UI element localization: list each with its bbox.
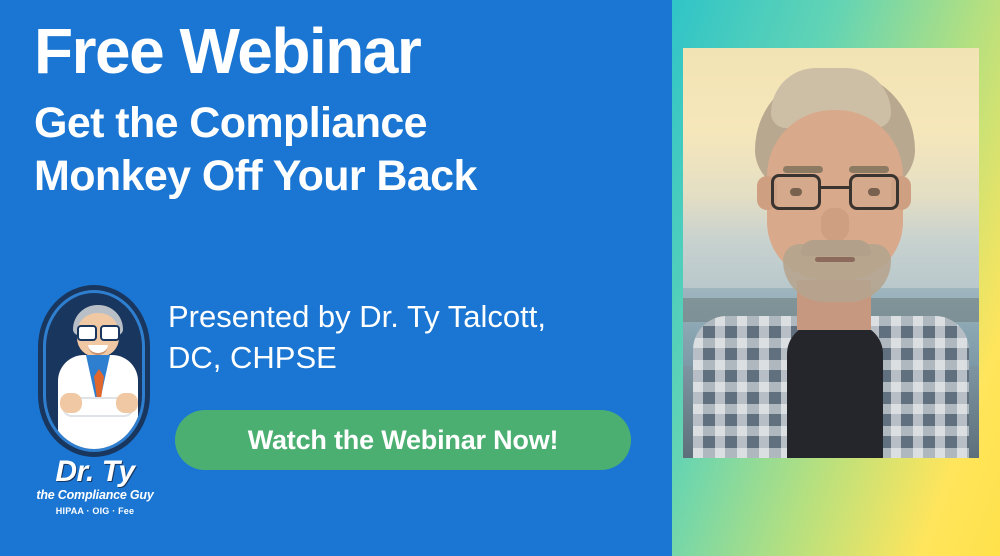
webinar-promo-banner: Free Webinar Get the Compliance Monkey O… xyxy=(0,0,1000,556)
page-title: Free Webinar xyxy=(34,18,664,85)
doctor-cartoon-icon xyxy=(43,290,145,452)
headline-subtitle-line-2: Monkey Off Your Back xyxy=(34,150,664,202)
watch-webinar-button[interactable]: Watch the Webinar Now! xyxy=(175,410,631,470)
logo-badge xyxy=(38,285,150,457)
presenter-portrait-photo xyxy=(683,48,979,458)
cartoon-hand-right xyxy=(116,393,138,413)
presenter-credit: Presented by Dr. Ty Talcott, DC, CHPSE xyxy=(168,296,648,378)
headline-subtitle: Get the Compliance Monkey Off Your Back xyxy=(34,97,664,202)
headline-block: Free Webinar Get the Compliance Monkey O… xyxy=(34,18,664,202)
photo-mustache xyxy=(801,240,871,256)
photo-lens-right xyxy=(849,174,899,210)
presenter-name-line: Presented by Dr. Ty Talcott, xyxy=(168,296,648,337)
photo-nose xyxy=(821,208,849,242)
photo-mouth xyxy=(815,257,855,262)
presenter-credentials-line: DC, CHPSE xyxy=(168,337,648,378)
cartoon-hand-left xyxy=(60,393,82,413)
dr-ty-logo[interactable]: Dr. Ty the Compliance Guy HIPAA · OIG · … xyxy=(30,285,160,525)
photo-eyebrow-right xyxy=(849,166,889,173)
photo-tshirt xyxy=(787,324,883,458)
photo-eyebrow-left xyxy=(783,166,823,173)
cartoon-glasses-right-icon xyxy=(100,325,120,341)
photo-glasses-bridge xyxy=(821,186,849,189)
logo-certifications: HIPAA · OIG · Fee xyxy=(30,506,160,516)
logo-wordmark: Dr. Ty xyxy=(30,455,160,489)
logo-tagline: the Compliance Guy xyxy=(30,488,160,502)
cartoon-glasses-left-icon xyxy=(77,325,97,341)
headline-subtitle-line-1: Get the Compliance xyxy=(34,97,664,149)
photo-lens-left xyxy=(771,174,821,210)
